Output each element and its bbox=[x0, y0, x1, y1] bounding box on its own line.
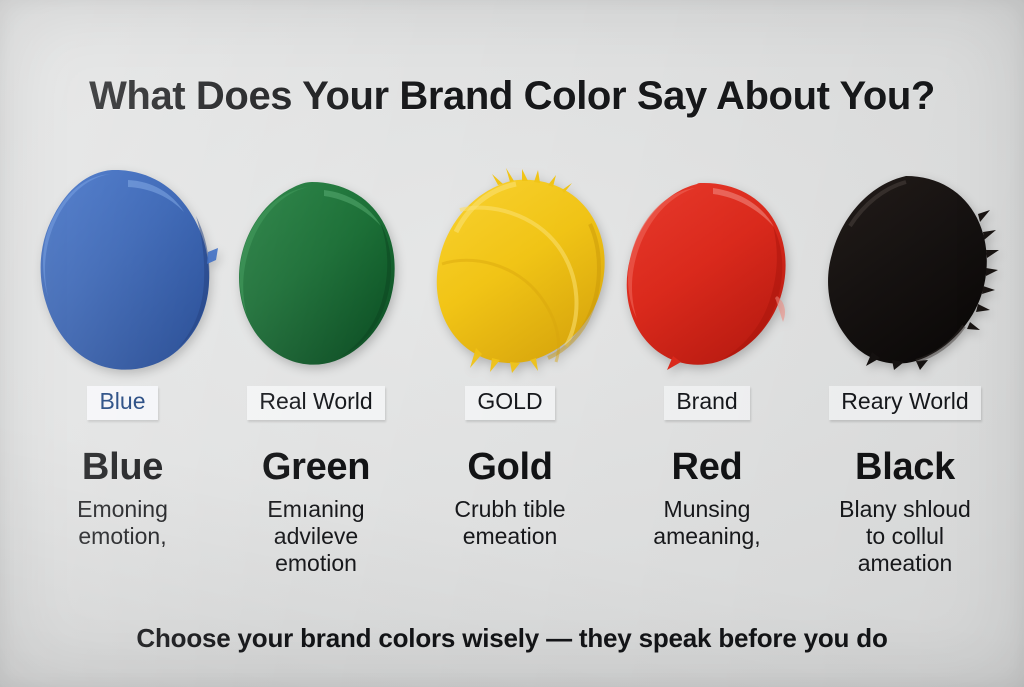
swatch-gold bbox=[430, 168, 610, 373]
swatch-blue bbox=[30, 168, 220, 373]
column-blue: Blue Blue Emoningemotion, bbox=[20, 386, 225, 550]
swatch-green bbox=[232, 180, 400, 368]
green-paint-blob bbox=[232, 180, 400, 368]
chip-wrap-green: Real World bbox=[213, 386, 419, 430]
column-green: Real World Green Emıaningadvileveemotion bbox=[213, 386, 419, 577]
color-description-gold: Crubh tibleemeation bbox=[410, 496, 610, 550]
black-paint-blob bbox=[820, 174, 1000, 370]
column-red: Brand Red Munsingameaning, bbox=[608, 386, 806, 550]
chip-label-gold: GOLD bbox=[465, 386, 554, 420]
color-name-gold: Gold bbox=[410, 448, 610, 486]
swatch-black bbox=[820, 174, 1000, 370]
color-name-blue: Blue bbox=[20, 448, 225, 486]
brand-color-poster: What Does Your Brand Color Say About You… bbox=[0, 0, 1024, 687]
column-black: Reary World Black Blany shloudto collula… bbox=[800, 386, 1010, 577]
chip-label-red: Brand bbox=[664, 386, 749, 420]
color-description-black: Blany shloudto collulameation bbox=[800, 496, 1010, 577]
gold-paint-blob bbox=[430, 168, 610, 373]
color-name-green: Green bbox=[213, 448, 419, 486]
color-description-green: Emıaningadvileveemotion bbox=[213, 496, 419, 577]
chip-wrap-gold: GOLD bbox=[410, 386, 610, 430]
color-name-red: Red bbox=[608, 448, 806, 486]
page-title: What Does Your Brand Color Say About You… bbox=[0, 74, 1024, 119]
chip-wrap-black: Reary World bbox=[800, 386, 1010, 430]
red-paint-blob bbox=[617, 180, 795, 370]
paint-swatch-row bbox=[0, 168, 1024, 373]
chip-label-blue: Blue bbox=[87, 386, 157, 420]
color-description-blue: Emoningemotion, bbox=[20, 496, 225, 550]
chip-wrap-red: Brand bbox=[608, 386, 806, 430]
color-description-red: Munsingameaning, bbox=[608, 496, 806, 550]
blue-paint-blob bbox=[30, 168, 220, 373]
chip-label-black: Reary World bbox=[829, 386, 980, 420]
swatch-red bbox=[617, 180, 795, 370]
chip-wrap-blue: Blue bbox=[20, 386, 225, 430]
chip-label-green: Real World bbox=[247, 386, 384, 420]
footer-tagline: Choose your brand colors wisely — they s… bbox=[0, 623, 1024, 654]
color-meaning-columns: Blue Blue Emoningemotion, Real World Gre… bbox=[0, 386, 1024, 616]
color-name-black: Black bbox=[800, 448, 1010, 486]
column-gold: GOLD Gold Crubh tibleemeation bbox=[410, 386, 610, 550]
